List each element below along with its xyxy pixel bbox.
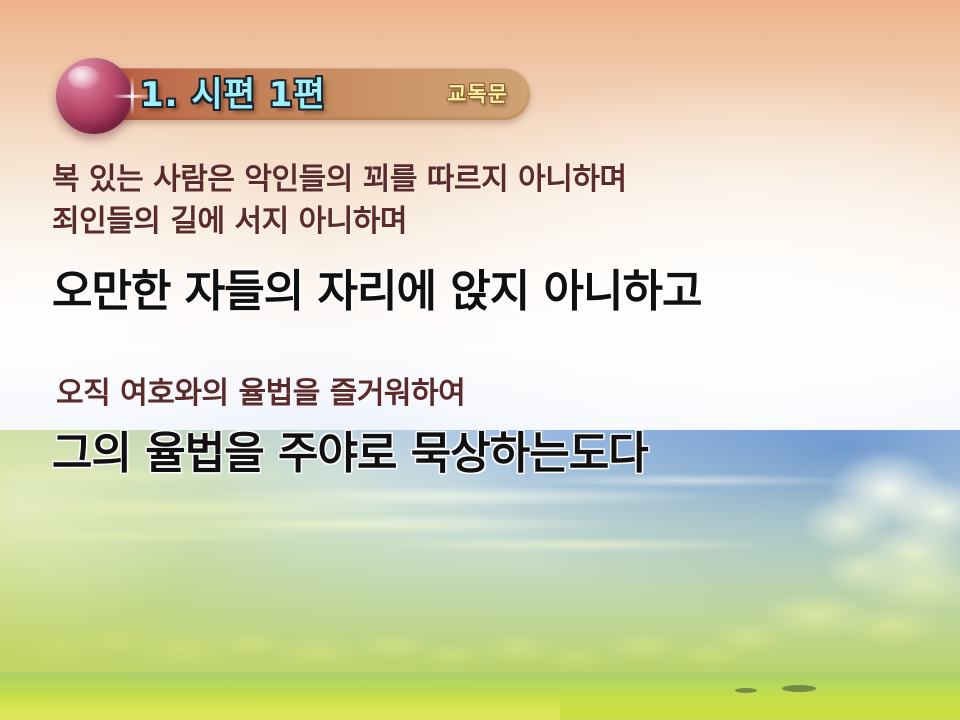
verse-line: 죄인들의 길에 서지 아니하며 <box>52 196 407 240</box>
verse-line: 복 있는 사람은 악인들의 꾀를 따르지 아니하며 <box>52 154 627 198</box>
verse-line-emphasis: 오만한 자들의 자리에 앉지 아니하고 <box>52 255 701 319</box>
presentation-slide: 1. 시편 1편 교독문 복 있는 사람은 악인들의 꾀를 따르지 아니하며 죄… <box>0 0 960 720</box>
verse-line-emphasis: 그의 율법을 주야로 묵상하는도다 <box>52 417 648 481</box>
verse-line: 오직 여호와의 율법을 즐거워하여 <box>56 368 465 412</box>
scripture-text-block: 복 있는 사람은 악인들의 꾀를 따르지 아니하며 죄인들의 길에 서지 아니하… <box>0 0 960 720</box>
